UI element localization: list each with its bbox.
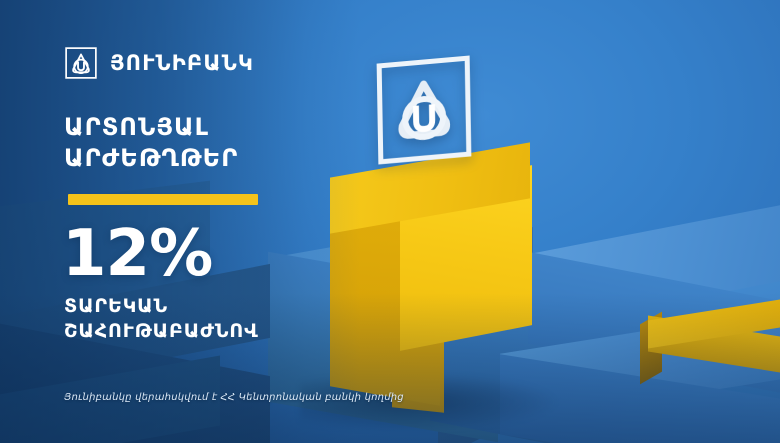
accent-divider xyxy=(68,194,258,205)
promo-banner: ՅՈՒՆԻԲԱՆԿ ԱՐՏՈՆՅԱԼ ԱՐԺԵԹՂԹԵՐ 12% ՏԱՐԵԿԱՆ… xyxy=(0,0,780,443)
headline: ԱՐՏՈՆՅԱԼ ԱՐԺԵԹՂԹԵՐ xyxy=(64,112,238,173)
copy-layer: ՅՈՒՆԻԲԱՆԿ ԱՐՏՈՆՅԱԼ ԱՐԺԵԹՂԹԵՐ 12% ՏԱՐԵԿԱՆ… xyxy=(0,0,780,443)
rate-caption: ՏԱՐԵԿԱՆ ՇԱՀՈՒԹԱԲԱԺՆՈՎ xyxy=(64,294,259,343)
brand-logo-icon xyxy=(64,46,98,80)
disclaimer-text: Յունիբանկը վերահսկվում է ՀՀ Կենտրոնական … xyxy=(64,392,404,403)
brand-lockup: ՅՈՒՆԻԲԱՆԿ xyxy=(64,46,254,80)
rate-value: 12% xyxy=(62,222,212,286)
brand-name: ՅՈՒՆԻԲԱՆԿ xyxy=(110,51,254,75)
